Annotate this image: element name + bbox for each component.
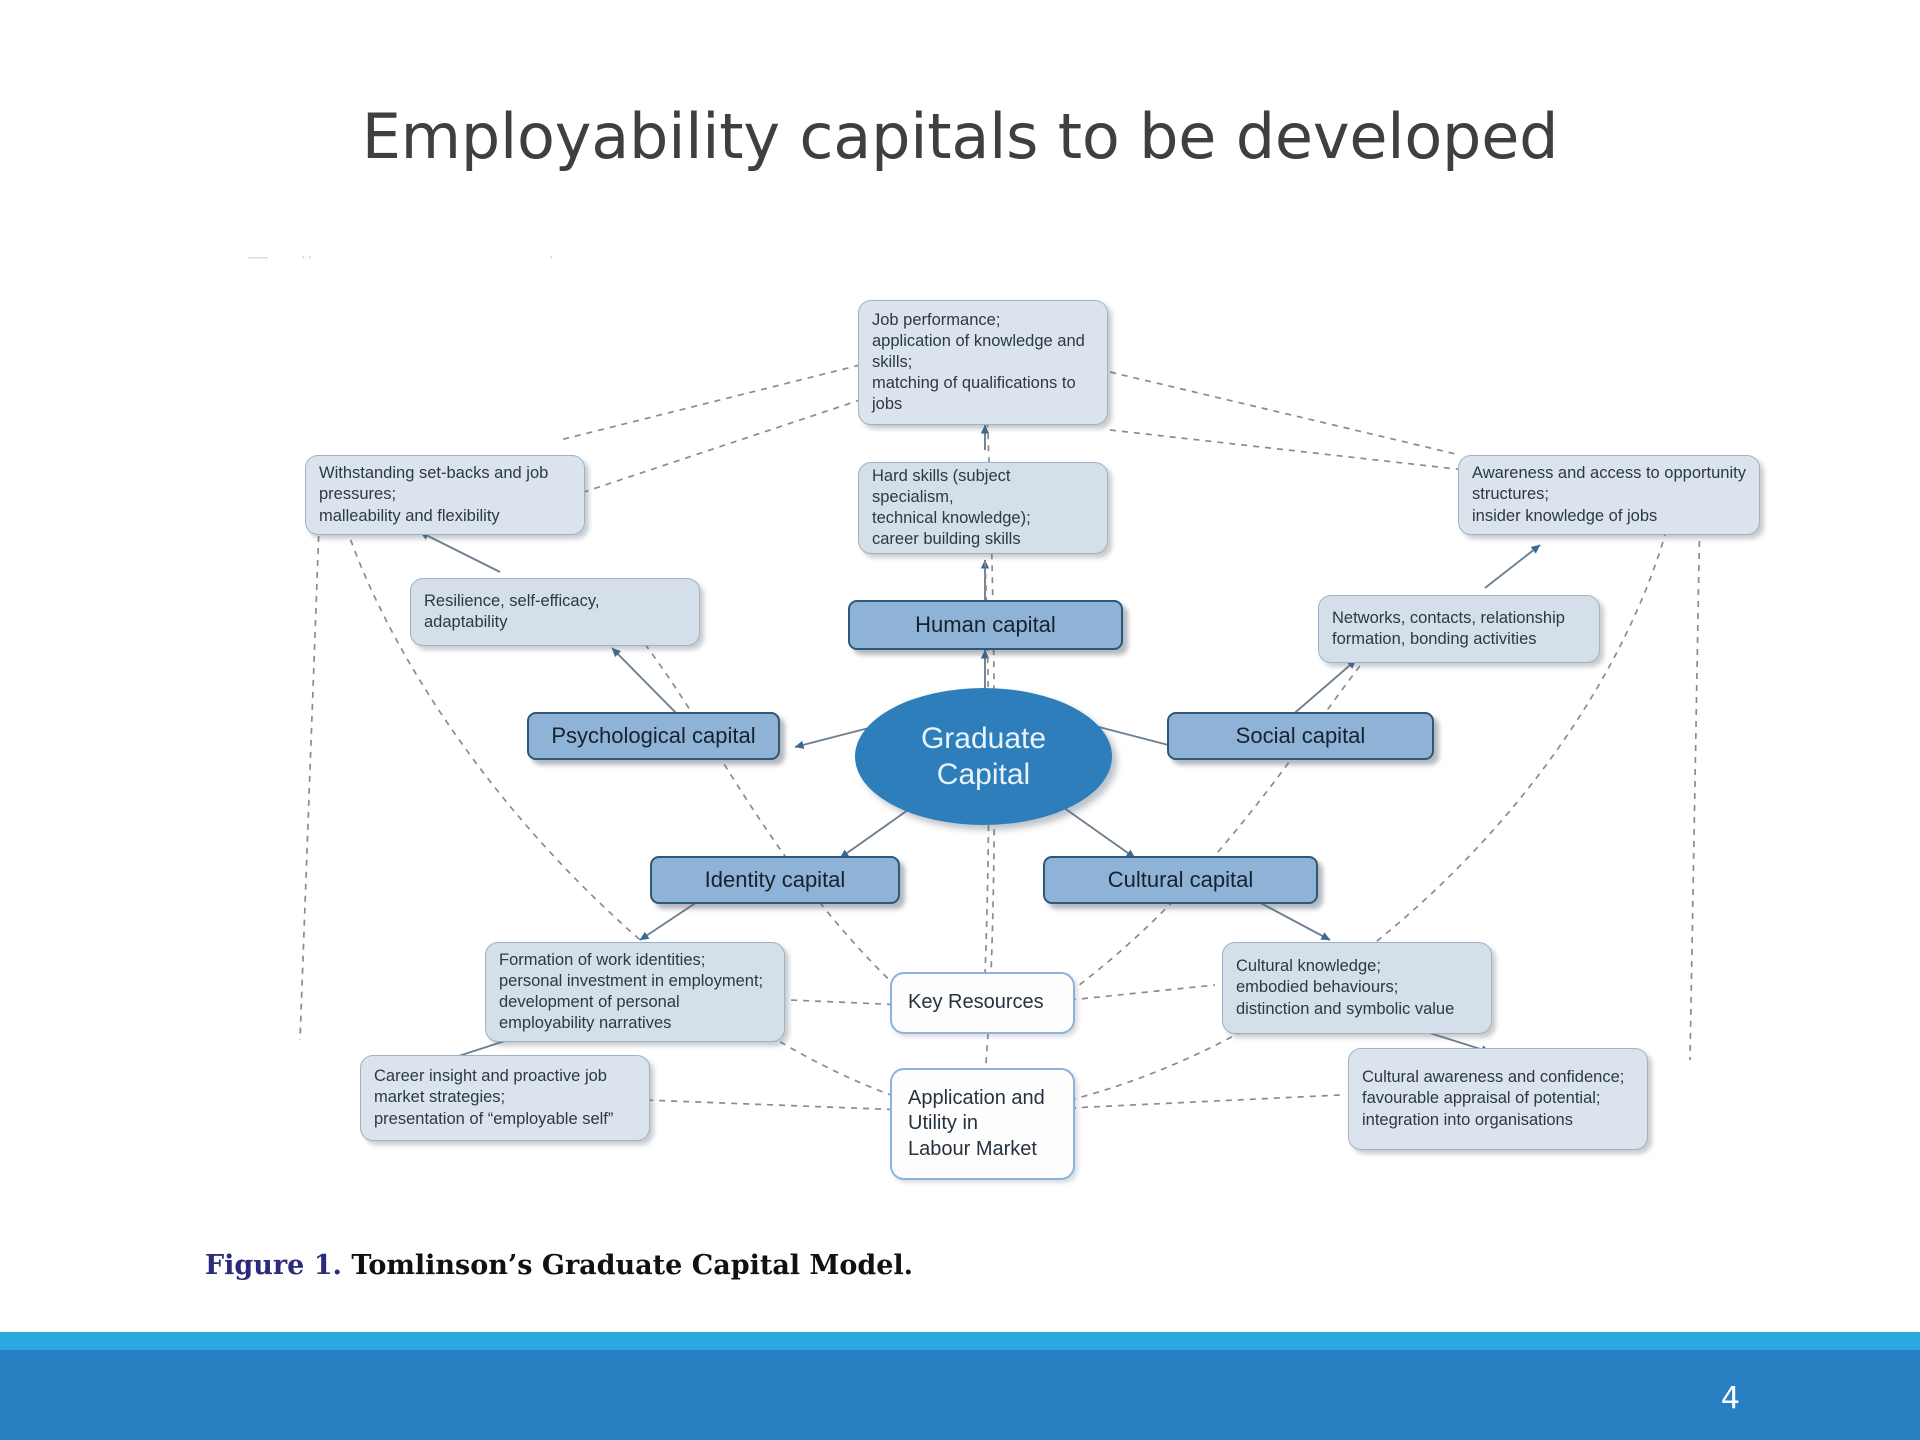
detail-cultural-awareness: Cultural awareness and confidence; favou… <box>1348 1048 1648 1150</box>
slide: Employability capitals to be developed —… <box>0 0 1920 1440</box>
detail-awareness-access: Awareness and access to opportunity stru… <box>1458 455 1760 535</box>
footer-accent-band <box>0 1332 1920 1350</box>
capital-social: Social capital <box>1167 712 1434 760</box>
keybox-key-resources: Key Resources <box>890 972 1075 1034</box>
figure-caption: Figure 1. Tomlinson’s Graduate Capital M… <box>205 1250 913 1281</box>
detail-resilience: Resilience, self-efficacy, adaptability <box>410 578 700 646</box>
detail-hard-skills: Hard skills (subject specialism, technic… <box>858 462 1108 554</box>
capital-cultural: Cultural capital <box>1043 856 1318 904</box>
detail-job-performance: Job performance; application of knowledg… <box>858 300 1108 425</box>
detail-career-insight: Career insight and proactive job market … <box>360 1055 650 1141</box>
figure-caption-number: Figure 1. <box>205 1250 342 1281</box>
capital-identity: Identity capital <box>650 856 900 904</box>
capital-human: Human capital <box>848 600 1123 650</box>
figure-caption-text: Tomlinson’s Graduate Capital Model. <box>342 1250 913 1281</box>
detail-networks: Networks, contacts, relationship formati… <box>1318 595 1600 663</box>
hub-graduate-capital: Graduate Capital <box>855 688 1112 825</box>
detail-cultural-knowledge: Cultural knowledge; embodied behaviours;… <box>1222 942 1492 1034</box>
detail-formation-work-identities: Formation of work identities; personal i… <box>485 942 785 1042</box>
detail-withstanding-setbacks: Withstanding set-backs and job pressures… <box>305 455 585 535</box>
graduate-capital-diagram: Job performance; application of knowledg… <box>0 0 1920 1440</box>
capital-psychological: Psychological capital <box>527 712 780 760</box>
keybox-application-utility: Application and Utility in Labour Market <box>890 1068 1075 1180</box>
footer-band: 4 <box>0 1350 1920 1440</box>
page-number: 4 <box>1721 1381 1740 1416</box>
